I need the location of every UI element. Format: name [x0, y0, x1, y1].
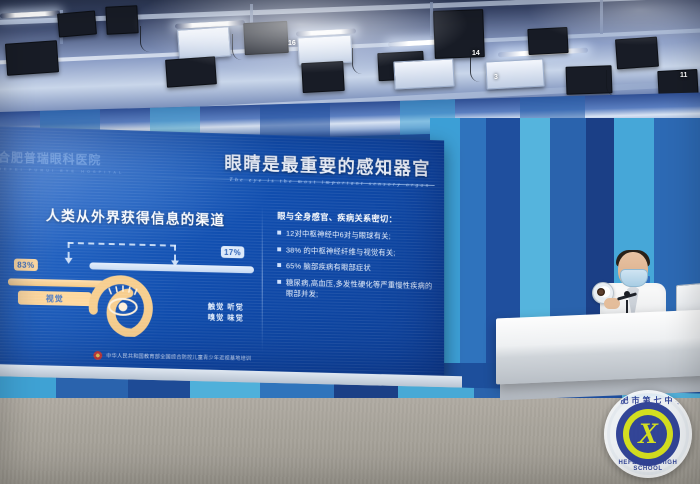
bullet-square-icon — [277, 247, 281, 251]
stage-light-fixture — [566, 65, 613, 95]
slide-footer-text: 中华人民共和国教育部全国综合防控儿童青少年近视基地培训 — [106, 352, 251, 362]
light-cable — [140, 26, 151, 52]
light-glow-bar — [175, 20, 245, 29]
senses-infographic: 83% 17% 视觉 触觉 听觉 嗅觉 味觉 — [8, 238, 254, 353]
wall-stripe — [460, 118, 486, 363]
slide-section-title: 人类从外界获得信息的渠道 — [46, 205, 225, 230]
slide-title-cn: 眼睛是最重要的感知器官 — [224, 149, 430, 181]
eye-swirl-graphic — [87, 262, 164, 337]
stage-light-fixture — [57, 10, 97, 37]
stage-light-fixture — [165, 56, 217, 87]
bullet-item: 糖尿病,高血压,多发性硬化等严重慢性疾病的眼部并发; — [277, 276, 432, 301]
hospital-watermark-cn: 合肥普瑞眼科医院 — [0, 150, 101, 167]
stage-light-fixture — [377, 51, 424, 81]
logo-school-name-en: HEFEI NO.7 HIGH SCHOOL — [605, 460, 691, 472]
truss-vertical — [60, 10, 63, 44]
national-emblem-icon — [93, 351, 102, 360]
light-fixture-number: 11 — [680, 72, 687, 79]
stage-light-fixture — [243, 21, 289, 55]
presenter-desk — [496, 310, 700, 385]
stage-light-fixture — [485, 59, 544, 90]
bullet-square-icon — [277, 231, 281, 235]
light-cable — [606, 70, 617, 96]
surgical-mask — [620, 269, 648, 287]
bullet-item: 38% 的中枢神经纤维与视觉有关; — [277, 244, 432, 259]
bullet-text: 糖尿病,高血压,多发性硬化等严重慢性疾病的眼部并发; — [286, 277, 433, 302]
light-cable — [470, 56, 481, 82]
school-logo-watermark: X 合肥市第七中学 HEFEI NO.7 HIGH SCHOOL — [604, 390, 692, 478]
truss-vertical — [600, 0, 603, 34]
eye-icon — [87, 262, 164, 337]
bullet-panel-heading: 眼与全身感官、疾病关系密切： — [277, 210, 432, 226]
studio-photo-screenshot: 16 14 3 11 合肥普瑞眼科医院 HEFEI PURUI EYE HOSP… — [0, 0, 700, 484]
bullet-text: 65% 脑部疾病有眼部症状 — [286, 260, 371, 273]
light-glow-bar — [388, 38, 468, 47]
vision-label: 视觉 — [18, 291, 91, 307]
bullet-text: 38% 的中枢神经纤维与视觉有关; — [286, 244, 396, 258]
studio-floor — [0, 398, 700, 484]
bullet-square-icon — [277, 279, 281, 283]
other-percent-badge: 17% — [221, 246, 244, 258]
logo-x-mark: X — [627, 417, 669, 451]
stage-light-fixture — [433, 9, 485, 59]
led-presentation-screen: 合肥普瑞眼科医院 HEFEI PURUI EYE HOSPITAL 眼睛是最重要… — [0, 126, 444, 380]
truss-vertical — [250, 4, 253, 38]
logo-school-name-cn: 合肥市第七中学 — [605, 395, 691, 406]
other-senses-labels: 触觉 听觉 嗅觉 味觉 — [194, 301, 258, 324]
stage-light-fixture — [615, 37, 659, 70]
truss-vertical — [430, 2, 433, 36]
slide-footer: 中华人民共和国教育部全国综合防控儿童青少年近视基地培训 — [93, 351, 251, 363]
vision-percent-badge: 83% — [14, 258, 38, 271]
dashed-connector — [68, 242, 176, 247]
light-glow-bar — [498, 48, 588, 58]
hospital-watermark-pinyin: HEFEI PURUI EYE HOSPITAL — [0, 166, 124, 175]
truss-bar-upper — [0, 0, 700, 26]
light-fixture-number: 14 — [472, 50, 480, 57]
stage-light-fixture — [301, 61, 345, 93]
bullet-panel: 眼与全身感官、疾病关系密切： 12对中枢神经中6对与眼球有关; 38% 的中枢神… — [277, 210, 432, 307]
stage-light-fixture — [297, 35, 352, 66]
light-glow-bar — [0, 10, 60, 18]
bullet-item: 65% 脑部疾病有眼部症状 — [277, 260, 432, 275]
stage-light-fixture — [5, 40, 59, 76]
stage-light-fixture — [177, 26, 231, 60]
stage-light-fixture — [527, 27, 568, 55]
light-fixture-number: 3 — [494, 74, 498, 81]
senses-line-2: 嗅觉 味觉 — [194, 311, 258, 323]
light-glow-bar — [296, 28, 356, 36]
stage-light-fixture — [393, 58, 454, 89]
light-cable — [352, 48, 363, 74]
slide-column-divider — [262, 206, 263, 354]
light-cable — [232, 34, 243, 60]
hospital-watermark: 合肥普瑞眼科医院 HEFEI PURUI EYE HOSPITAL — [0, 148, 124, 175]
dashed-arrow — [65, 258, 73, 264]
stage-light-fixture — [105, 5, 138, 35]
bullet-text: 12对中枢神经中6对与眼球有关; — [286, 228, 391, 242]
dashed-connector — [174, 245, 178, 261]
bullet-item: 12对中枢神经中6对与眼球有关; — [277, 228, 432, 243]
truss-bar-middle — [0, 27, 700, 65]
wall-panel — [260, 103, 330, 139]
bullet-square-icon — [277, 263, 281, 267]
dashed-connector — [68, 242, 72, 258]
light-fixture-number: 16 — [288, 40, 296, 47]
